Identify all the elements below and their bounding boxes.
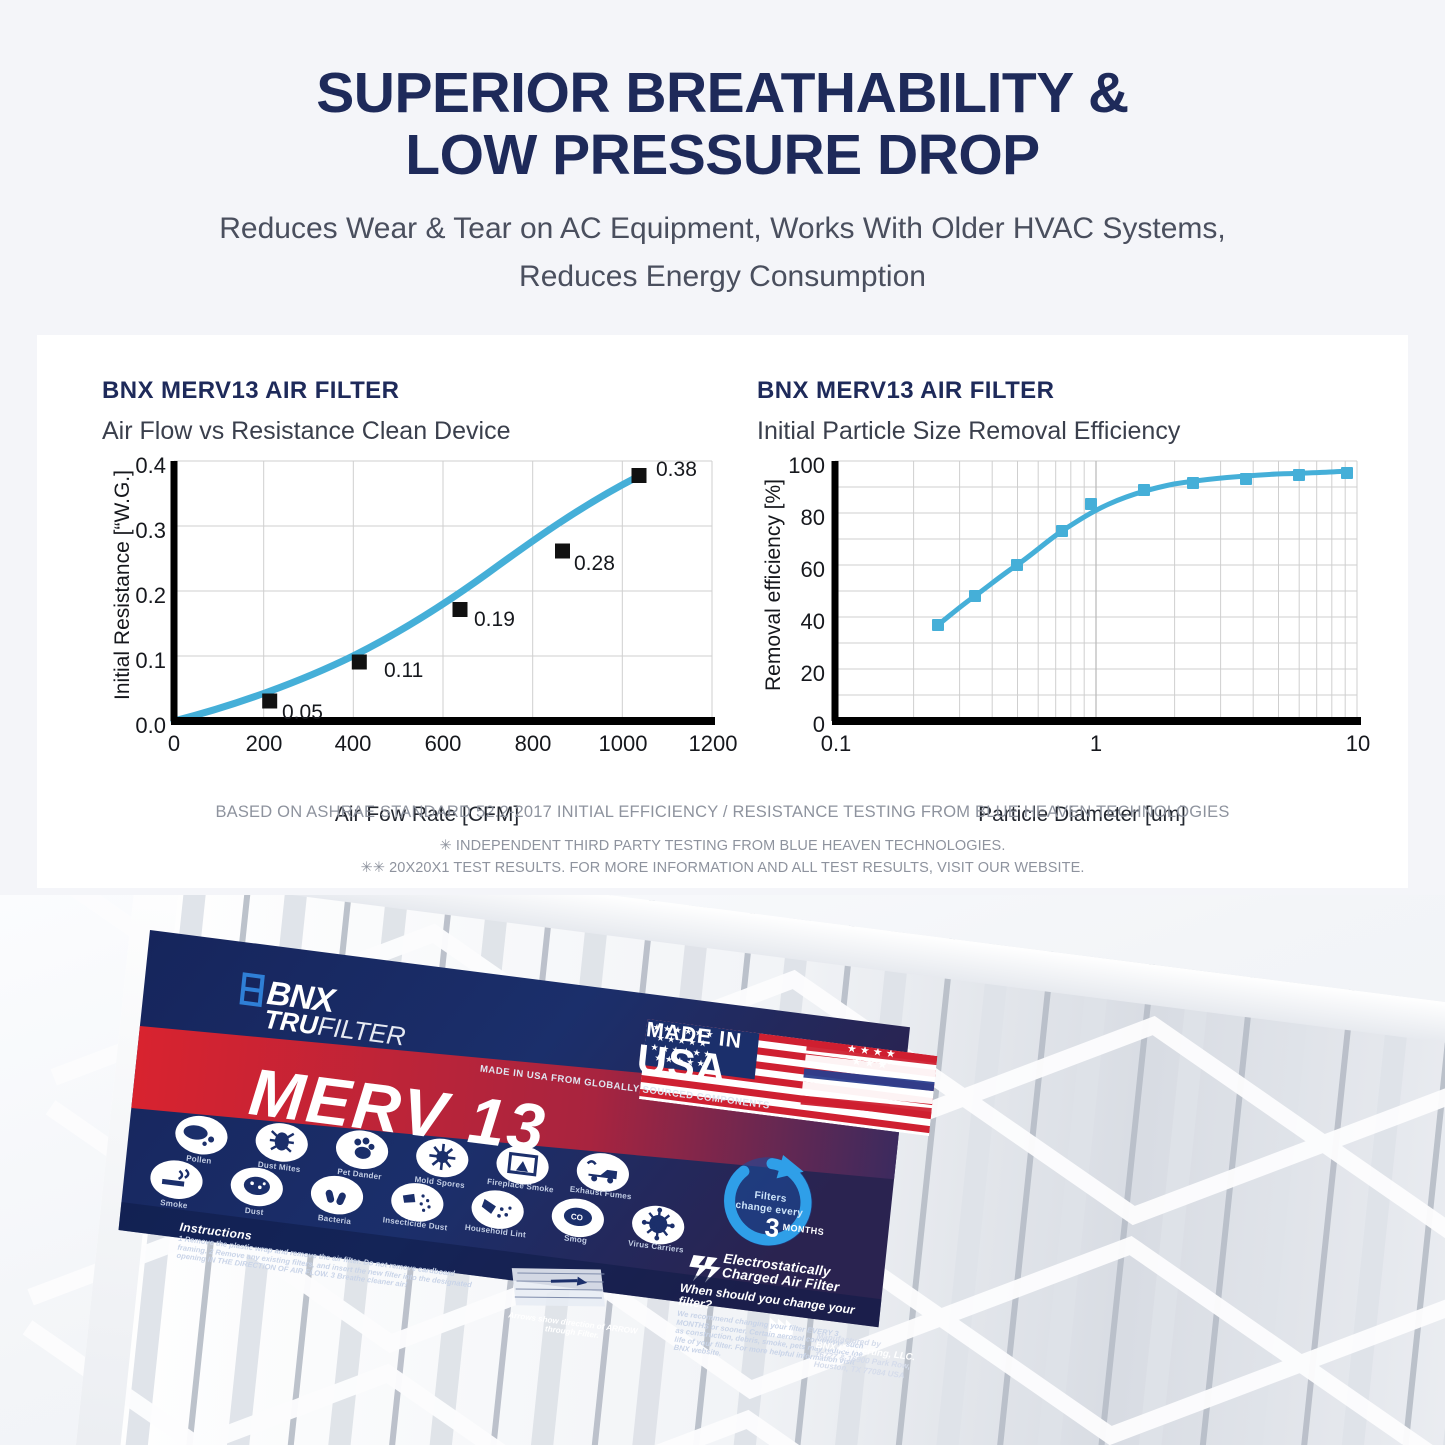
- chart-left-plot: 0.4 0.3 0.2 0.1 0.0 Initial Resistance […: [102, 453, 752, 783]
- chart-right-y-axis-label: Removal efficiency [%]: [762, 460, 786, 710]
- product-photo: ★ ★ ★ ★ ★ ★ ★ ★ ★ ★ ★ ★ ★ ★ ★ ★ ★ ★ ★ ★ …: [0, 895, 1445, 1445]
- chart-left-xtick-200: 200: [236, 731, 292, 757]
- subhead-line-2: Reduces Energy Consumption: [0, 253, 1445, 301]
- chart-left-gridlines: [174, 461, 712, 721]
- chart-right-subtitle: Initial Particle Size Removal Efficiency: [757, 417, 1180, 446]
- chart-right-xtick-0p1: 0.1: [811, 731, 861, 757]
- chart-left-point-label-0p19: 0.19: [474, 608, 515, 632]
- chart-left-point-label-0p11: 0.11: [384, 659, 423, 683]
- chart-left-subtitle: Air Flow vs Resistance Clean Device: [102, 417, 510, 446]
- chart-left-xtick-0: 0: [154, 731, 194, 757]
- headline-line-1: SUPERIOR BREATHABILITY &: [316, 61, 1128, 125]
- chart-left-data-line: [174, 476, 639, 721]
- footnote-test-results: ✳✳ 20X20X1 TEST RESULTS. FOR MORE INFORM…: [37, 860, 1408, 876]
- charts-panel: BNX MERV13 AIR FILTER Air Flow vs Resist…: [37, 335, 1408, 888]
- filter-photo-svg: ★ ★ ★ ★ ★ ★ ★ ★ ★ ★ ★ ★ ★ ★ ★ ★ ★ ★ ★ ★ …: [0, 895, 1445, 1445]
- chart-right-title: BNX MERV13 AIR FILTER: [757, 377, 1054, 405]
- chart-left-point-label-0p05: 0.05: [282, 701, 323, 725]
- chart-right-markers: [932, 467, 1353, 631]
- chart-left-xtick-800: 800: [505, 731, 561, 757]
- footnote-third-party: ✳ INDEPENDENT THIRD PARTY TESTING FROM B…: [37, 838, 1408, 854]
- chart-left-xtick-400: 400: [325, 731, 381, 757]
- chart-right-xtick-10: 10: [1335, 731, 1381, 757]
- chart-left-point-label-0p28: 0.28: [574, 552, 615, 576]
- header-section: SUPERIOR BREATHABILITY & LOW PRESSURE DR…: [0, 0, 1445, 330]
- chart-left-y-axis-label: Initial Resistance [“W.G.]: [111, 460, 135, 710]
- chart-right-xtick-1: 1: [1076, 731, 1116, 757]
- footnote-ashrae: BASED ON ASHRAE STANDARD 52.2-2017 INITI…: [37, 803, 1408, 822]
- product-infographic: SUPERIOR BREATHABILITY & LOW PRESSURE DR…: [0, 0, 1445, 1445]
- subhead-line-1: Reduces Wear & Tear on AC Equipment, Wor…: [219, 212, 1225, 245]
- chart-left-point-label-0p38: 0.38: [656, 458, 697, 482]
- chart-left-xtick-1200: 1200: [679, 731, 747, 757]
- chart-right-plot: 100 80 60 40 20 0 Removal efficiency [%]…: [757, 453, 1407, 783]
- headline-line-2: LOW PRESSURE DROP: [0, 124, 1445, 186]
- chart-left-xtick-600: 600: [415, 731, 471, 757]
- page-title: SUPERIOR BREATHABILITY & LOW PRESSURE DR…: [0, 62, 1445, 186]
- svg-text:CO: CO: [570, 1212, 583, 1222]
- page-subtitle: Reduces Wear & Tear on AC Equipment, Wor…: [0, 205, 1445, 301]
- chart-left-title: BNX MERV13 AIR FILTER: [102, 377, 399, 405]
- bnx-logo-icon: [239, 972, 264, 1007]
- chart-left-xtick-1000: 1000: [589, 731, 657, 757]
